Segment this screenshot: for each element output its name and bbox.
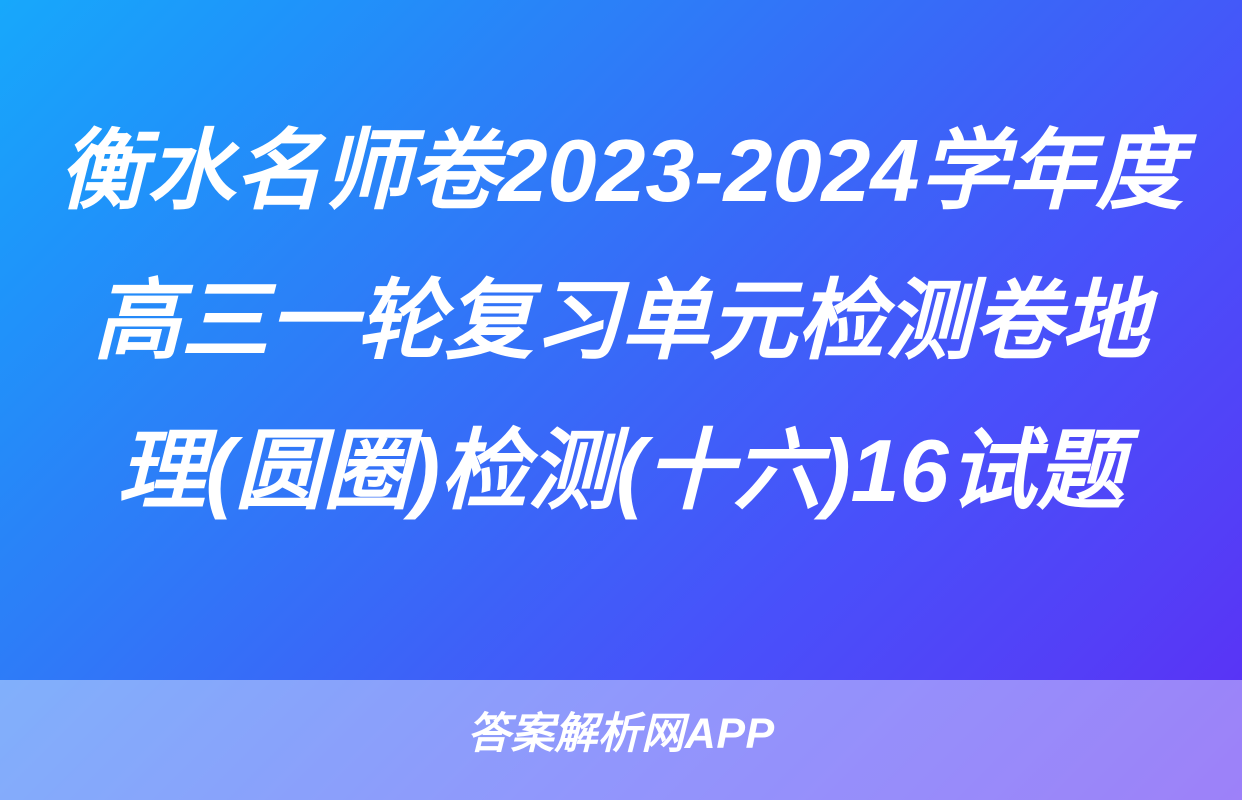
title-block: 衡水名师卷2023-2024学年度高三一轮复习单元检测卷地理(圆圈)检测(十六)… (0, 96, 1242, 546)
watermark-band: 答案解析网APP (0, 680, 1242, 800)
page-title: 衡水名师卷2023-2024学年度高三一轮复习单元检测卷地理(圆圈)检测(十六)… (52, 96, 1190, 546)
app-watermark-label: 答案解析网APP (467, 710, 774, 758)
cover-card: 衡水名师卷2023-2024学年度高三一轮复习单元检测卷地理(圆圈)检测(十六)… (0, 0, 1242, 800)
